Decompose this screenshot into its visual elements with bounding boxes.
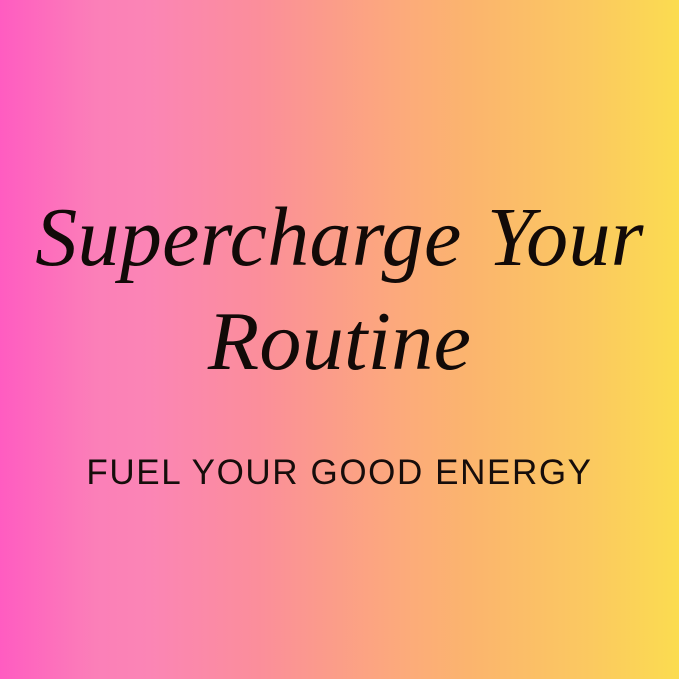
headline: Supercharge Your Routine [24, 186, 655, 394]
headline-line-2: Routine [24, 290, 655, 394]
subtitle: FUEL YOUR GOOD ENERGY [24, 394, 655, 492]
poster-canvas: Supercharge Your Routine FUEL YOUR GOOD … [0, 0, 679, 679]
headline-line-1: Supercharge Your [24, 186, 655, 290]
poster-text-block: Supercharge Your Routine FUEL YOUR GOOD … [0, 186, 679, 492]
